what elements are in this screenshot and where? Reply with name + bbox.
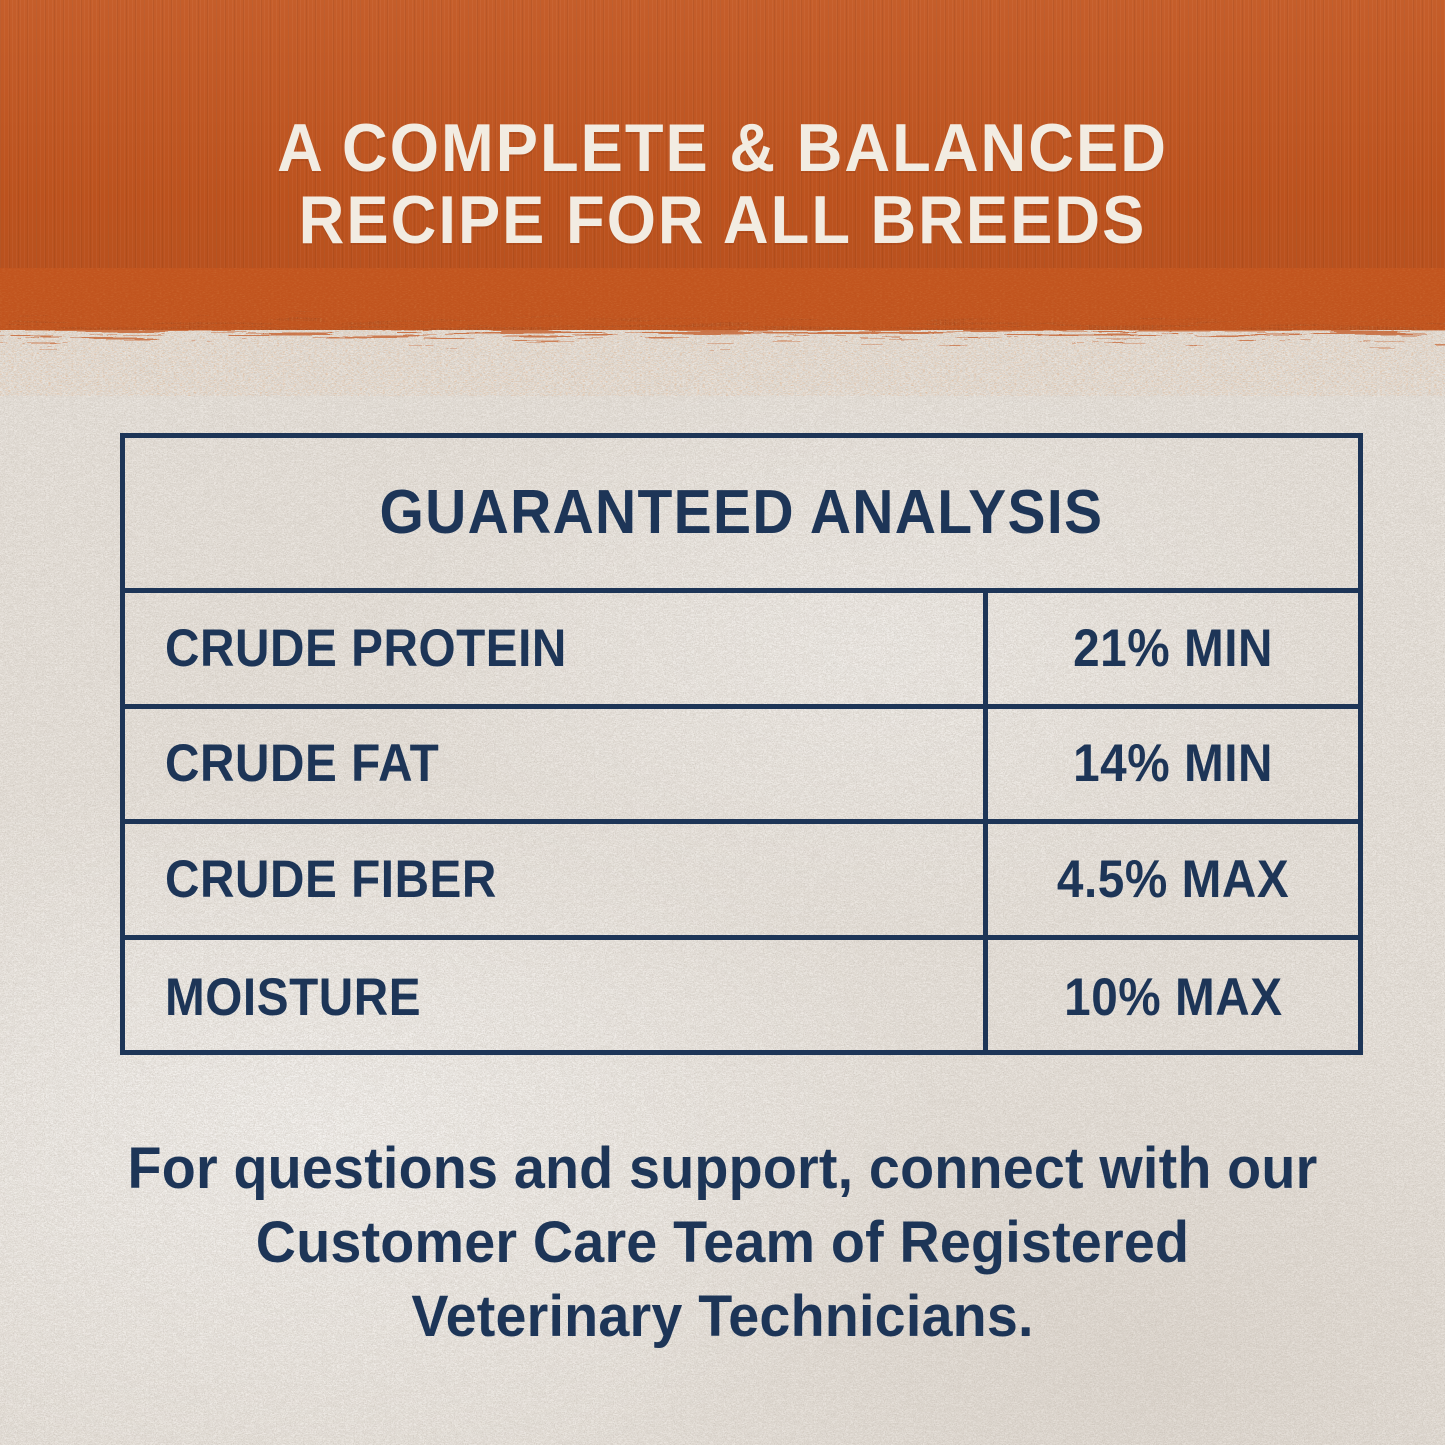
nutrient-label-cell: CRUDE FAT: [125, 709, 988, 820]
nutrient-value: 21% MIN: [1073, 622, 1273, 675]
nutrient-value: 4.5% MAX: [1057, 853, 1289, 906]
guaranteed-analysis-title: GUARANTEED ANALYSIS: [380, 482, 1104, 544]
table-row: CRUDE FIBER 4.5% MAX: [125, 824, 1358, 940]
nutrient-value: 10% MAX: [1064, 971, 1283, 1024]
nutrient-label: CRUDE FAT: [165, 737, 439, 790]
nutrient-label-cell: CRUDE FIBER: [125, 824, 988, 935]
nutrient-label: CRUDE FIBER: [165, 853, 497, 906]
product-packaging-panel: A COMPLETE & BALANCED RECIPE FOR ALL BRE…: [0, 0, 1445, 1445]
nutrient-label: MOISTURE: [165, 971, 421, 1024]
nutrient-value-cell: 21% MIN: [988, 593, 1358, 704]
nutrient-value: 14% MIN: [1073, 737, 1273, 790]
table-row: MOISTURE 10% MAX: [125, 940, 1358, 1056]
nutrient-label-cell: CRUDE PROTEIN: [125, 593, 988, 704]
nutrient-label-cell: MOISTURE: [125, 940, 988, 1056]
nutrient-value-cell: 4.5% MAX: [988, 824, 1358, 935]
banner-headline: A COMPLETE & BALANCED RECIPE FOR ALL BRE…: [51, 112, 1395, 256]
table-row: CRUDE FAT 14% MIN: [125, 709, 1358, 825]
nutrient-label: CRUDE PROTEIN: [165, 622, 567, 675]
customer-care-note: For questions and support, connect with …: [125, 1132, 1320, 1354]
guaranteed-analysis-header-row: GUARANTEED ANALYSIS: [125, 438, 1358, 593]
table-row: CRUDE PROTEIN 21% MIN: [125, 593, 1358, 709]
guaranteed-analysis-table: GUARANTEED ANALYSIS CRUDE PROTEIN 21% MI…: [120, 433, 1363, 1055]
nutrient-value-cell: 14% MIN: [988, 709, 1358, 820]
nutrient-value-cell: 10% MAX: [988, 940, 1358, 1056]
